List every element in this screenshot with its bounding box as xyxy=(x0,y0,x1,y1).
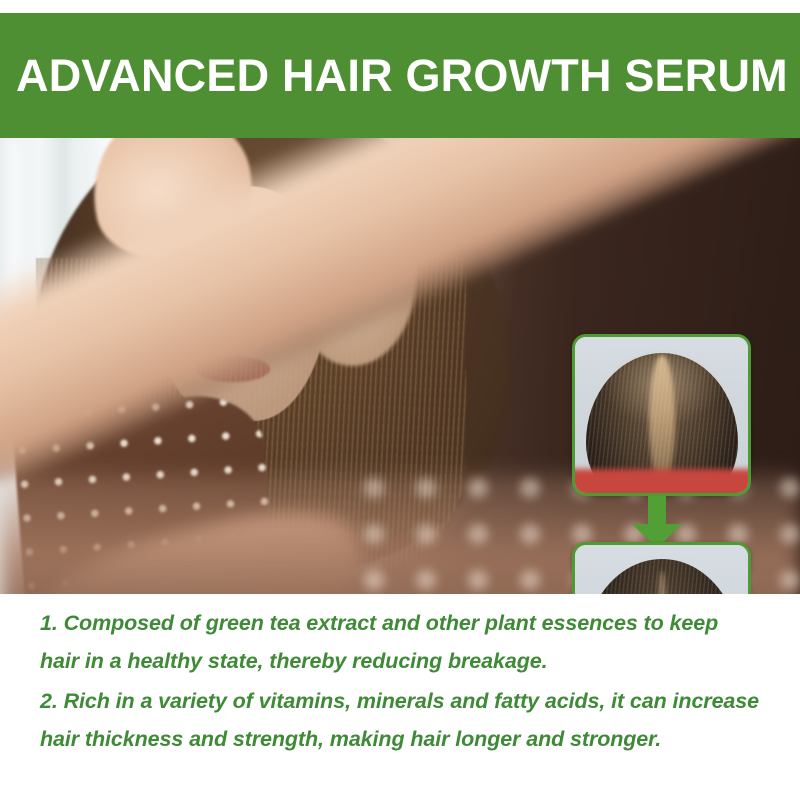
before-collar xyxy=(572,469,751,496)
down-arrow-icon xyxy=(630,496,684,548)
hero-photo xyxy=(0,138,800,594)
page-title: ADVANCED HAIR GROWTH SERUM xyxy=(0,53,788,98)
product-infographic: ADVANCED HAIR GROWTH SERUM xyxy=(0,0,800,800)
benefits-block: 1. Composed of green tea extract and oth… xyxy=(0,594,800,800)
benefit-item-2: 2. Rich in a variety of vitamins, minera… xyxy=(40,682,760,758)
benefit-item-1: 1. Composed of green tea extract and oth… xyxy=(40,604,760,680)
title-banner: ADVANCED HAIR GROWTH SERUM xyxy=(0,13,800,138)
after-photo-panel xyxy=(572,542,751,594)
before-part-line xyxy=(649,355,675,487)
before-photo-panel xyxy=(572,334,751,496)
